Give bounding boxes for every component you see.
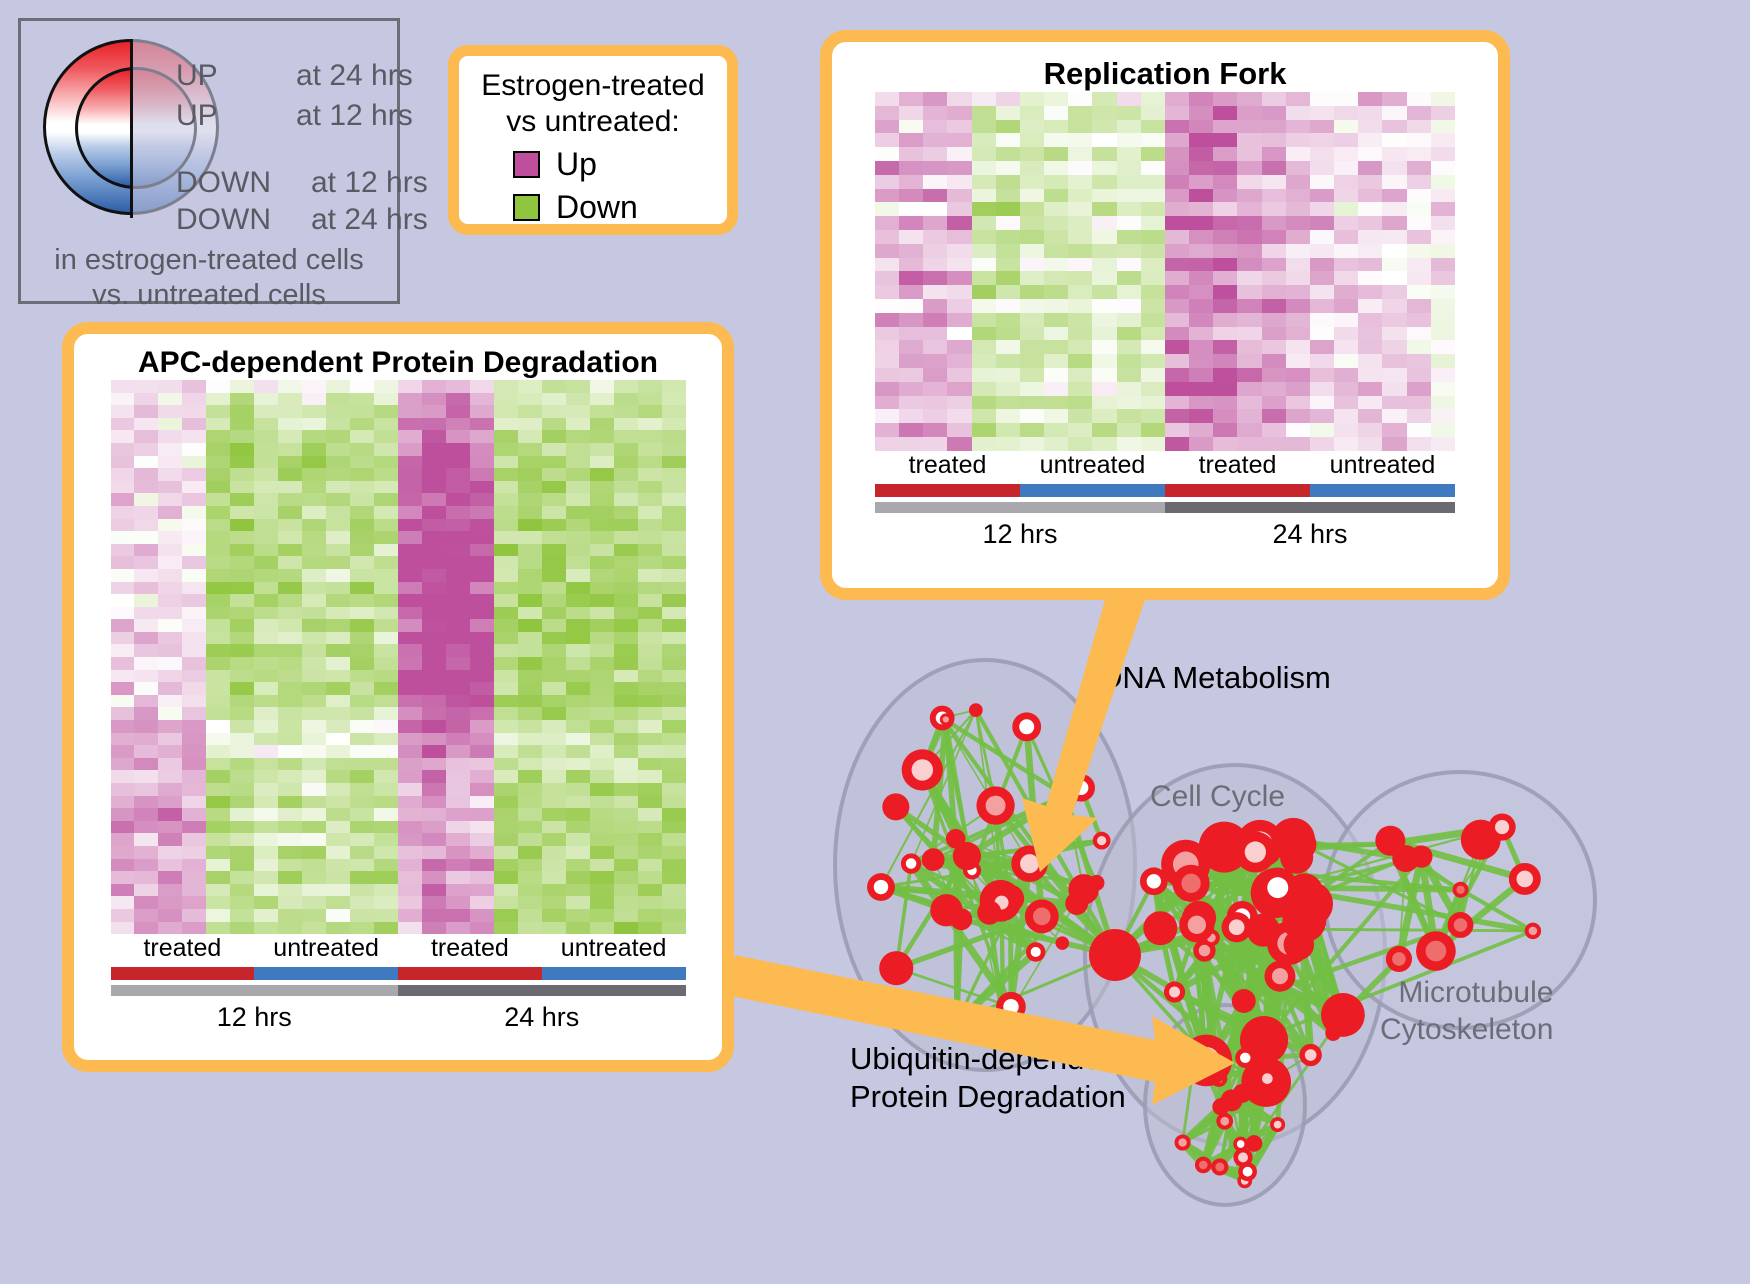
- heatmap-cell: [1334, 175, 1358, 189]
- network-node: [969, 703, 983, 717]
- heatmap-cell: [398, 670, 422, 683]
- heatmap-cell: [1020, 133, 1044, 147]
- heatmap-cell: [230, 670, 254, 683]
- heatmap-cell: [1020, 202, 1044, 216]
- heatmap-cell: [1237, 202, 1261, 216]
- heatmap-cell: [1068, 147, 1092, 161]
- heatmap-cell: [422, 745, 446, 758]
- heatmap-cell: [972, 106, 996, 120]
- heatmap-cell: [1141, 161, 1165, 175]
- heatmap-cell: [1262, 299, 1286, 313]
- heatmap-cell: [111, 796, 135, 809]
- heatmap-cell: [662, 871, 686, 884]
- heatmap-cell: [899, 354, 923, 368]
- heatmap-cell: [206, 796, 230, 809]
- heatmap-cell: [518, 582, 542, 595]
- heatmap-cell: [111, 871, 135, 884]
- heatmap-cell: [470, 393, 494, 406]
- heatmap-cell: [566, 632, 590, 645]
- heatmap-cell: [1092, 368, 1116, 382]
- heatmap-cell: [590, 670, 614, 683]
- heatmap-cell: [1044, 437, 1068, 451]
- heatmap-cell: [1237, 133, 1261, 147]
- heatmap-cell: [1382, 409, 1406, 423]
- heatmap-cell: [422, 896, 446, 909]
- heatmap-cell: [350, 758, 374, 771]
- heatmap-cell: [422, 443, 446, 456]
- heatmap-cell: [182, 393, 206, 406]
- heatmap-cell: [518, 393, 542, 406]
- heatmap-cell: [542, 430, 566, 443]
- heatmap-cell: [1310, 396, 1334, 410]
- heatmap-cell: [158, 582, 182, 595]
- heatmap-cell: [614, 695, 638, 708]
- heatmap-cell: [923, 423, 947, 437]
- heatmap-cell: [470, 493, 494, 506]
- heatmap-cell: [302, 556, 326, 569]
- time-bar-12hrs: [111, 985, 399, 996]
- heatmap-cell: [1262, 120, 1286, 134]
- heatmap-cell: [542, 607, 566, 620]
- heatmap-cell: [1092, 285, 1116, 299]
- heatmap-cell: [470, 707, 494, 720]
- heatmap-cell: [662, 569, 686, 582]
- heatmap-cell: [494, 846, 518, 859]
- heatmap-cell: [111, 821, 135, 834]
- network-node-core: [1188, 916, 1206, 934]
- heatmap-cell: [1213, 313, 1237, 327]
- heatmap-cell: [972, 271, 996, 285]
- heatmap-cell: [518, 657, 542, 670]
- heatmap-cell: [1286, 354, 1310, 368]
- heatmap-cell: [182, 707, 206, 720]
- heatmap-cell: [996, 230, 1020, 244]
- heatmap-cell: [326, 418, 350, 431]
- heatmap-cell: [374, 707, 398, 720]
- heatmap-cell: [470, 619, 494, 632]
- heatmap-cell: [1310, 327, 1334, 341]
- heatmap-cell: [638, 720, 662, 733]
- heatmap-cell: [542, 808, 566, 821]
- heatmap-cell: [1044, 396, 1068, 410]
- heatmap-cell: [566, 833, 590, 846]
- heatmap-cell: [566, 909, 590, 922]
- heatmap-cell: [254, 922, 278, 935]
- time-bar-24hrs: [1165, 502, 1455, 513]
- heatmap-cell: [638, 783, 662, 796]
- heatmap-cell: [947, 327, 971, 341]
- time-bar-24hrs: [398, 985, 686, 996]
- heatmap-cell: [1141, 368, 1165, 382]
- heatmap-cell: [1189, 382, 1213, 396]
- heatmap-cell: [398, 607, 422, 620]
- heatmap-cell: [899, 382, 923, 396]
- heatmap-cell: [158, 833, 182, 846]
- heatmap-cell: [374, 657, 398, 670]
- heatmap-cell: [518, 909, 542, 922]
- heatmap-cell: [350, 481, 374, 494]
- heatmap-cell: [254, 405, 278, 418]
- heatmap-cell: [278, 644, 302, 657]
- heatmap-cell: [278, 531, 302, 544]
- heatmap-cell: [1334, 230, 1358, 244]
- heatmap-cell: [947, 230, 971, 244]
- network-node-core: [1529, 927, 1538, 936]
- heatmap-cell: [1431, 271, 1455, 285]
- heatmap-cell: [1286, 92, 1310, 106]
- heatmap-cell: [1358, 354, 1382, 368]
- heatmap-cell: [1237, 216, 1261, 230]
- heatmap-cell: [446, 796, 470, 809]
- heatmap-cell: [662, 922, 686, 935]
- heatmap-cell: [1382, 120, 1406, 134]
- heatmap-cell: [1262, 271, 1286, 285]
- heatmap-cell: [350, 707, 374, 720]
- heatmap-cell: [1141, 230, 1165, 244]
- heatmap-cell: [662, 884, 686, 897]
- heatmap-cell: [182, 657, 206, 670]
- heatmap-cell: [590, 783, 614, 796]
- colorwheel-legend-box: UP at 24 hrs UP at 12 hrs DOWN at 12 hrs…: [18, 18, 400, 304]
- heatmap-cell: [350, 896, 374, 909]
- heatmap-cell: [1117, 106, 1141, 120]
- heatmap-cell: [1431, 368, 1455, 382]
- heatmap-cell: [1358, 258, 1382, 272]
- heatmap-cell: [1189, 368, 1213, 382]
- heatmap-cell: [494, 758, 518, 771]
- heatmap-cell: [1286, 327, 1310, 341]
- heatmap-cell: [494, 733, 518, 746]
- heatmap-cell: [398, 922, 422, 935]
- heatmap-cell: [1092, 354, 1116, 368]
- heatmap-cell: [899, 147, 923, 161]
- heatmap-cell: [1044, 368, 1068, 382]
- heatmap-cell: [278, 859, 302, 872]
- heatmap-cell: [566, 707, 590, 720]
- heatmap-cell: [398, 695, 422, 708]
- heatmap-cell: [278, 770, 302, 783]
- heatmap-cell: [158, 657, 182, 670]
- heatmap-cell: [470, 430, 494, 443]
- heatmap-cell: [254, 859, 278, 872]
- heatmap-cell: [590, 619, 614, 632]
- heatmap-cell: [923, 271, 947, 285]
- heatmap-cell: [350, 720, 374, 733]
- heatmap-cell: [1189, 299, 1213, 313]
- heatmap-cell: [350, 393, 374, 406]
- heatmap-cell: [972, 368, 996, 382]
- heatmap-cell: [470, 380, 494, 393]
- heatmap-cell: [996, 120, 1020, 134]
- heatmap-cell: [254, 758, 278, 771]
- heatmap-cell: [614, 859, 638, 872]
- heatmap-cell: [254, 884, 278, 897]
- heatmap-cell: [1165, 189, 1189, 203]
- heatmap-cell: [422, 594, 446, 607]
- heatmap-cell: [374, 393, 398, 406]
- heatmap-cell: [134, 644, 158, 657]
- heatmap-cell: [1068, 423, 1092, 437]
- heatmap-cell: [1213, 382, 1237, 396]
- heatmap-cell: [614, 481, 638, 494]
- heatmap-cell: [230, 821, 254, 834]
- heatmap-cell: [1165, 258, 1189, 272]
- heatmap-cell: [254, 644, 278, 657]
- heatmap-cell: [446, 544, 470, 557]
- heatmap-cell: [638, 745, 662, 758]
- heatmap-cell: [111, 859, 135, 872]
- heatmap-cell: [1044, 147, 1068, 161]
- heatmap-cell: [1068, 175, 1092, 189]
- heatmap-cell: [1141, 133, 1165, 147]
- heatmap-cell: [254, 896, 278, 909]
- heatmap-cell: [182, 833, 206, 846]
- heatmap-cell: [350, 544, 374, 557]
- heatmap-cell: [566, 430, 590, 443]
- heatmap-cell: [996, 202, 1020, 216]
- heatmap-cell: [638, 443, 662, 456]
- heatmap-cell: [1189, 133, 1213, 147]
- heatmap-cell: [398, 733, 422, 746]
- heatmap-cell: [158, 796, 182, 809]
- heatmap-cell: [1189, 327, 1213, 341]
- heatmap-cell: [1431, 409, 1455, 423]
- heatmap-cell: [206, 695, 230, 708]
- heatmap-cell: [374, 821, 398, 834]
- heatmap-cell: [1358, 409, 1382, 423]
- heatmap-cell: [398, 380, 422, 393]
- heatmap-cell: [1068, 437, 1092, 451]
- heatmap-cell: [446, 594, 470, 607]
- heatmap-cell: [446, 657, 470, 670]
- heatmap-cell: [1020, 409, 1044, 423]
- heatmap-cell: [398, 405, 422, 418]
- heatmap-cell: [494, 418, 518, 431]
- heatmap-cell: [1117, 230, 1141, 244]
- heatmap-cell: [1213, 396, 1237, 410]
- heatmap-cell: [1092, 299, 1116, 313]
- heatmap-cell: [278, 544, 302, 557]
- axis-group-color-bars: [111, 967, 686, 980]
- heatmap-cell: [996, 189, 1020, 203]
- network-node-core: [1456, 886, 1464, 894]
- heatmap-cell: [111, 707, 135, 720]
- heatmap-cell: [446, 871, 470, 884]
- heatmap-cell: [422, 670, 446, 683]
- heatmap-cell: [518, 884, 542, 897]
- colorwheel-label-up-24: UP: [176, 59, 218, 93]
- network-node-core: [1229, 919, 1245, 935]
- heatmap-cell: [923, 258, 947, 272]
- heatmap-cell: [590, 859, 614, 872]
- heatmap-cell: [590, 506, 614, 519]
- heatmap-cell: [1213, 340, 1237, 354]
- heatmap-cell: [947, 382, 971, 396]
- heatmap-cell: [1334, 340, 1358, 354]
- heatmap-cell: [398, 846, 422, 859]
- heatmap-cell: [1165, 382, 1189, 396]
- heatmap-cell: [638, 519, 662, 532]
- heatmap-cell: [398, 657, 422, 670]
- heatmap-cell: [446, 531, 470, 544]
- heatmap-cell: [350, 380, 374, 393]
- heatmap-cell: [182, 531, 206, 544]
- heatmap-cell: [446, 556, 470, 569]
- heatmap-cell: [947, 409, 971, 423]
- heatmap-cell: [158, 682, 182, 695]
- heatmap-cell: [374, 632, 398, 645]
- heatmap-cell: [254, 783, 278, 796]
- heatmap-cell: [134, 833, 158, 846]
- heatmap-cell: [996, 299, 1020, 313]
- network-svg: [770, 600, 1750, 1279]
- heatmap-cell: [230, 758, 254, 771]
- network-node-core: [1240, 1053, 1250, 1063]
- heatmap-cell: [374, 733, 398, 746]
- heatmap-cell: [230, 380, 254, 393]
- heatmap-cell: [134, 506, 158, 519]
- heatmap-cell: [111, 846, 135, 859]
- heatmap-cell: [996, 92, 1020, 106]
- heatmap-cell: [494, 544, 518, 557]
- heatmap-cell: [350, 670, 374, 683]
- network-hub-node: [1089, 929, 1141, 981]
- heatmap-cell: [875, 202, 899, 216]
- heatmap-cell: [494, 707, 518, 720]
- heatmap-cell: [230, 582, 254, 595]
- heatmap-cell: [1310, 216, 1334, 230]
- heatmap-cell: [518, 468, 542, 481]
- heatmap-cell: [1431, 189, 1455, 203]
- heatmap-cell: [398, 745, 422, 758]
- heatmap-cell: [1382, 354, 1406, 368]
- heatmap-cell: [158, 896, 182, 909]
- heatmap-cell: [494, 922, 518, 935]
- heatmap-cell: [206, 556, 230, 569]
- heatmap-cell: [638, 871, 662, 884]
- heatmap-cell: [326, 380, 350, 393]
- heatmap-cell: [422, 884, 446, 897]
- heatmap-cell: [1334, 161, 1358, 175]
- heatmap-cell: [326, 846, 350, 859]
- heatmap-cell: [134, 380, 158, 393]
- heatmap-cell: [923, 327, 947, 341]
- heatmap-cell: [638, 821, 662, 834]
- heatmap-cell: [374, 796, 398, 809]
- heatmap-cell: [422, 405, 446, 418]
- heatmap-cell: [350, 531, 374, 544]
- heatmap-cell: [947, 313, 971, 327]
- heatmap-cell: [972, 189, 996, 203]
- heatmap-cell: [278, 393, 302, 406]
- heatmap-cell: [566, 695, 590, 708]
- heatmap-cell: [326, 481, 350, 494]
- heatmap-cell: [494, 531, 518, 544]
- heatmap-cell: [182, 733, 206, 746]
- heatmap-cell: [1117, 382, 1141, 396]
- heatmap-cell: [542, 695, 566, 708]
- heatmap-cell: [1310, 244, 1334, 258]
- heatmap-cell: [972, 202, 996, 216]
- heatmap-cell: [590, 808, 614, 821]
- heatmap-cell: [518, 808, 542, 821]
- heatmap-cell: [1020, 368, 1044, 382]
- heatmap-cell: [134, 720, 158, 733]
- heatmap-cell: [302, 922, 326, 935]
- heatmap-cell: [662, 896, 686, 909]
- heatmap-cell: [1334, 423, 1358, 437]
- heatmap-cell: [566, 544, 590, 557]
- heatmap-cell: [111, 695, 135, 708]
- heatmap-cell: [350, 922, 374, 935]
- heatmap-cell: [662, 657, 686, 670]
- heatmap-cell: [1286, 202, 1310, 216]
- heatmap-cell: [662, 821, 686, 834]
- heatmap-cell: [542, 682, 566, 695]
- heatmap-cell: [206, 846, 230, 859]
- heatmap-cell: [1407, 423, 1431, 437]
- heatmap-cell: [254, 846, 278, 859]
- heatmap-cell: [1286, 189, 1310, 203]
- heatmap-cell: [518, 922, 542, 935]
- heatmap-cell: [899, 299, 923, 313]
- heatmap-cell: [1020, 437, 1044, 451]
- network-node-core: [1147, 874, 1161, 888]
- heatmap-cell: [350, 859, 374, 872]
- heatmap-cell: [1286, 409, 1310, 423]
- heatmap-cell: [1431, 258, 1455, 272]
- heatmap-cell: [518, 481, 542, 494]
- legend-item-down: Down: [513, 189, 727, 226]
- heatmap-cell: [254, 443, 278, 456]
- heatmap-cell: [206, 644, 230, 657]
- heatmap-cell: [326, 859, 350, 872]
- heatmap-cell: [1117, 368, 1141, 382]
- heatmap-cell: [446, 922, 470, 935]
- heatmap-cell: [1382, 313, 1406, 327]
- heatmap-cell: [182, 607, 206, 620]
- heatmap-cell: [1141, 147, 1165, 161]
- heatmap-cell: [1334, 396, 1358, 410]
- heatmap-cell: [158, 418, 182, 431]
- heatmap-cell: [542, 783, 566, 796]
- heatmap-cell: [206, 745, 230, 758]
- heatmap-cell: [111, 380, 135, 393]
- heatmap-cell: [662, 519, 686, 532]
- heatmap-cell: [662, 556, 686, 569]
- heatmap-cell: [111, 430, 135, 443]
- heatmap-cell: [374, 430, 398, 443]
- heatmap-cell: [1262, 327, 1286, 341]
- heatmap-cell: [206, 808, 230, 821]
- heatmap-cell: [1262, 175, 1286, 189]
- heatmap-cell: [542, 733, 566, 746]
- heatmap-cell: [230, 493, 254, 506]
- heatmap-cell: [326, 556, 350, 569]
- network-node-core: [1033, 908, 1051, 926]
- heatmap-cell: [374, 594, 398, 607]
- heatmap-cell: [1213, 258, 1237, 272]
- heatmap-cell: [542, 380, 566, 393]
- heatmap-cell: [350, 657, 374, 670]
- heatmap-cell: [374, 720, 398, 733]
- heatmap-cell: [158, 594, 182, 607]
- heatmap-cell: [278, 896, 302, 909]
- heatmap-cell: [947, 340, 971, 354]
- heatmap-cell: [206, 519, 230, 532]
- heatmap-cell: [134, 569, 158, 582]
- bar-untreated-12: [1020, 484, 1165, 497]
